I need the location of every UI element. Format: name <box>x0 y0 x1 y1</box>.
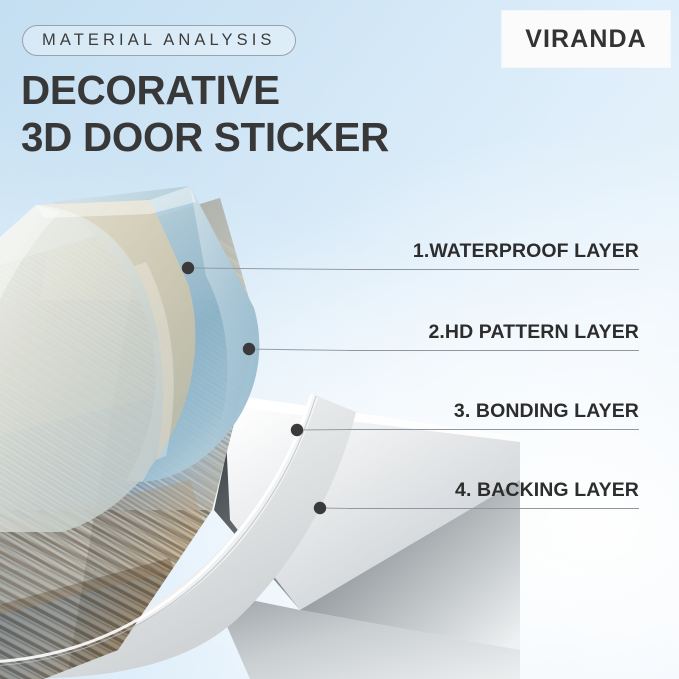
callout-hd-pattern-layer: 2.HD PATTERN LAYER <box>349 321 679 351</box>
page-title-line-2: 3D DOOR STICKER <box>21 114 389 161</box>
callout-bonding-layer: 3. BONDING LAYER <box>349 400 679 430</box>
page-title: DECORATIVE 3D DOOR STICKER <box>21 67 389 161</box>
page-title-line-1: DECORATIVE <box>21 67 389 114</box>
callout-hd-pattern-layer-label: 2.HD PATTERN LAYER <box>349 321 639 350</box>
callout-hd-pattern-layer-rule <box>349 350 639 351</box>
callout-backing-layer: 4. BACKING LAYER <box>349 479 679 509</box>
brand-logo-box: VIRANDA <box>502 11 670 67</box>
callout-waterproof-layer-label: 1.WATERPROOF LAYER <box>349 240 639 269</box>
material-analysis-badge: MATERIAL ANALYSIS <box>22 25 296 56</box>
material-analysis-infographic: VIRANDA MATERIAL ANALYSIS DECORATIVE 3D … <box>0 0 679 679</box>
callout-bonding-layer-rule <box>349 429 639 430</box>
brand-name: VIRANDA <box>525 25 647 54</box>
callout-backing-layer-rule <box>349 508 639 509</box>
callout-backing-layer-label: 4. BACKING LAYER <box>349 479 639 508</box>
material-analysis-badge-label: MATERIAL ANALYSIS <box>42 31 276 50</box>
callout-waterproof-layer-rule <box>349 269 639 270</box>
callout-bonding-layer-label: 3. BONDING LAYER <box>349 400 639 429</box>
callout-waterproof-layer: 1.WATERPROOF LAYER <box>349 240 679 270</box>
